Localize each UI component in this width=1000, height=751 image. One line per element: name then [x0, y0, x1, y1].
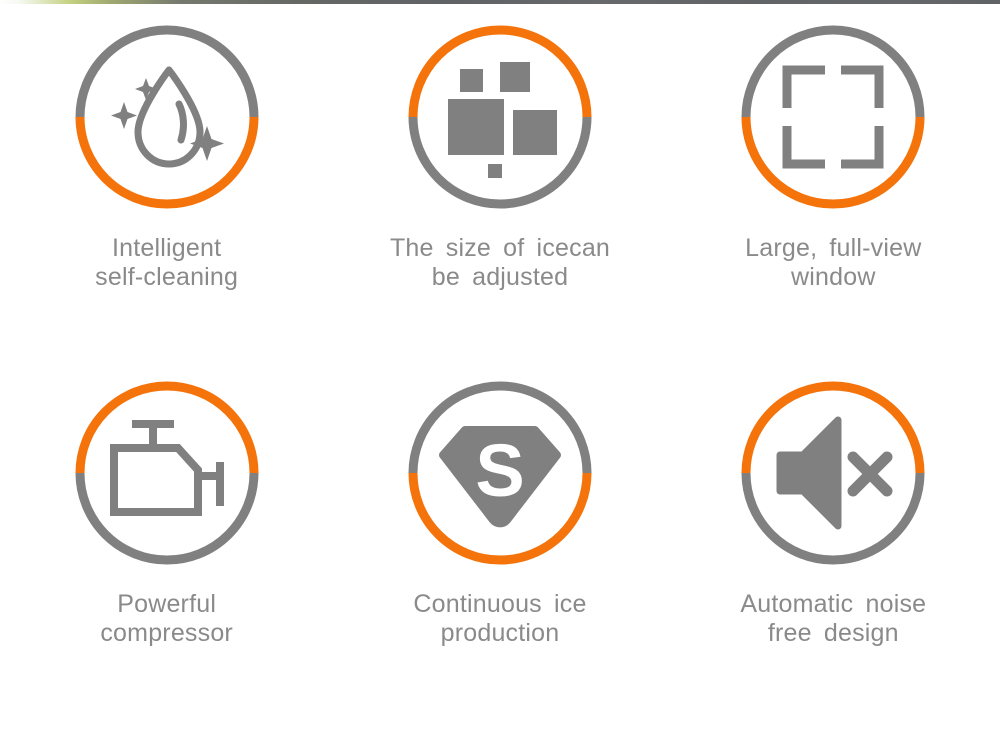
feature-caption: Intelligent self-cleaning	[95, 234, 238, 293]
water-drop-sparkle-icon	[102, 52, 232, 182]
ice-cubes-squares-icon	[435, 52, 565, 182]
feature-caption: Powerful compressor	[100, 590, 233, 649]
icon-ring-automatic-noise-free	[738, 378, 928, 568]
feature-caption: Large, full-view window	[745, 234, 921, 293]
feature-item-automatic-noise-free[interactable]: Automatic noise free design	[667, 378, 1000, 718]
feature-caption: The size of icecan be adjusted	[390, 234, 610, 293]
feature-item-ice-size-adjustable[interactable]: The size of icecan be adjusted	[333, 22, 666, 378]
feature-grid: Intelligent self-cleaning The size of ic…	[0, 0, 1000, 751]
fullscreen-frame-icon	[768, 52, 898, 182]
compressor-engine-icon	[102, 408, 232, 538]
icon-ring-powerful-compressor	[72, 378, 262, 568]
feature-caption: Automatic noise free design	[740, 590, 926, 649]
feature-item-full-view-window[interactable]: Large, full-view window	[667, 22, 1000, 378]
icon-ring-full-view-window	[738, 22, 928, 212]
feature-item-powerful-compressor[interactable]: Powerful compressor	[0, 378, 333, 718]
feature-item-intelligent-self-cleaning[interactable]: Intelligent self-cleaning	[0, 22, 333, 378]
speaker-mute-icon	[768, 408, 898, 538]
feature-item-continuous-ice-production[interactable]: S Continuous ice production	[333, 378, 666, 718]
feature-caption: Continuous ice production	[413, 590, 586, 649]
diamond-s-gem-icon: S	[435, 408, 565, 538]
icon-ring-continuous-ice-production: S	[405, 378, 595, 568]
icon-ring-intelligent-self-cleaning	[72, 22, 262, 212]
svg-text:S: S	[475, 429, 524, 512]
icon-ring-ice-size-adjustable	[405, 22, 595, 212]
